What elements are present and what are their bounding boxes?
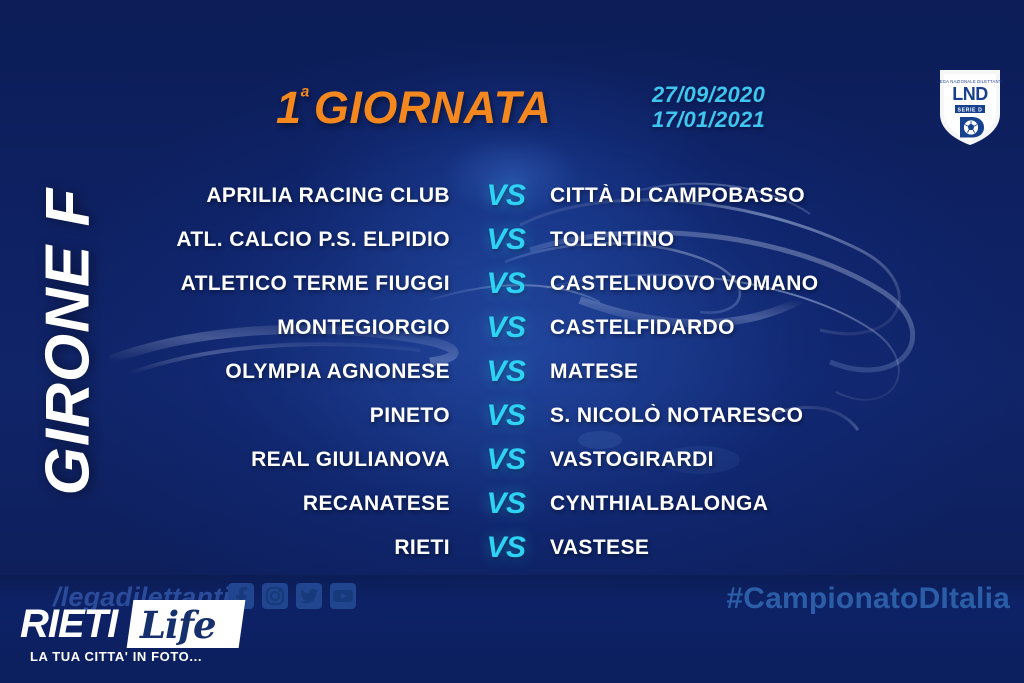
away-team: CYNTHIALBALONGA xyxy=(542,492,1024,516)
table-row: RECANATESE VS CYNTHIALBALONGA xyxy=(0,482,1024,526)
table-row: REAL GIULIANOVA VS VASTOGIRARDI xyxy=(0,438,1024,482)
vs-separator: VS xyxy=(470,179,542,213)
away-team: VASTOGIRARDI xyxy=(542,448,1024,472)
date-second-leg: 17/01/2021 xyxy=(652,107,765,132)
vs-separator: VS xyxy=(470,223,542,257)
home-team: RIETI xyxy=(0,536,470,560)
vs-separator: VS xyxy=(470,443,542,477)
away-team: VASTESE xyxy=(542,536,1024,560)
vs-separator: VS xyxy=(470,399,542,433)
campaign-hashtag: #CampionatoDItalia xyxy=(726,582,1010,616)
home-team: PINETO xyxy=(0,404,470,428)
table-row: APRILIA RACING CLUB VS CITTÀ DI CAMPOBAS… xyxy=(0,174,1024,218)
home-team: REAL GIULIANOVA xyxy=(0,448,470,472)
vs-separator: VS xyxy=(470,355,542,389)
home-team: ATLETICO TERME FIUGGI xyxy=(0,272,470,296)
matchday-number: 1 xyxy=(276,82,302,133)
home-team: MONTEGIORGIO xyxy=(0,316,470,340)
home-team: APRILIA RACING CLUB xyxy=(0,184,470,208)
home-team: RECANATESE xyxy=(0,492,470,516)
rieti-life-watermark: RIETI Life LA TUA CITTA' IN FOTO... xyxy=(18,602,243,668)
away-team: CASTELFIDARDO xyxy=(542,316,1024,340)
twitter-icon[interactable] xyxy=(296,583,322,609)
away-team: TOLENTINO xyxy=(542,228,1024,252)
table-row: RIETI VS VASTESE xyxy=(0,526,1024,570)
matchday-ordinal: ª xyxy=(300,84,309,111)
matchday-word: GIORNATA xyxy=(314,82,551,133)
vs-separator: VS xyxy=(470,267,542,301)
away-team: S. NICOLÒ NOTARESCO xyxy=(542,404,1024,428)
instagram-icon[interactable] xyxy=(262,583,288,609)
watermark-tagline: LA TUA CITTA' IN FOTO... xyxy=(30,649,202,664)
matchday-poster: GIRONE F 1ªGIORNATA 27/09/2020 17/01/202… xyxy=(0,0,1024,683)
table-row: MONTEGIORGIO VS CASTELFIDARDO xyxy=(0,306,1024,350)
table-row: PINETO VS S. NICOLÒ NOTARESCO xyxy=(0,394,1024,438)
matchday-dates: 27/09/2020 17/01/2021 xyxy=(652,82,765,132)
vs-separator: VS xyxy=(470,487,542,521)
youtube-icon[interactable] xyxy=(330,583,356,609)
lnd-serie-d-badge: LEGA NAZIONALE DILETTANTI LND SERIE D xyxy=(936,66,1004,148)
home-team: ATL. CALCIO P.S. ELPIDIO xyxy=(0,228,470,252)
watermark-brand-primary: RIETI xyxy=(20,602,117,646)
away-team: MATESE xyxy=(542,360,1024,384)
home-team: OLYMPIA AGNONESE xyxy=(0,360,470,384)
away-team: CITTÀ DI CAMPOBASSO xyxy=(542,184,1024,208)
table-row: ATLETICO TERME FIUGGI VS CASTELNUOVO VOM… xyxy=(0,262,1024,306)
poster-header: 1ªGIORNATA 27/09/2020 17/01/2021 xyxy=(0,72,1024,136)
away-team: CASTELNUOVO VOMANO xyxy=(542,272,1024,296)
svg-text:SERIE D: SERIE D xyxy=(958,107,983,113)
date-first-leg: 27/09/2020 xyxy=(652,82,765,107)
watermark-brand-secondary: Life xyxy=(140,603,216,647)
social-links xyxy=(228,583,356,609)
svg-text:LND: LND xyxy=(952,84,988,104)
vs-separator: VS xyxy=(470,311,542,345)
matchday-title: 1ªGIORNATA xyxy=(276,72,551,134)
table-row: ATL. CALCIO P.S. ELPIDIO VS TOLENTINO xyxy=(0,218,1024,262)
fixtures-list: APRILIA RACING CLUB VS CITTÀ DI CAMPOBAS… xyxy=(0,174,1024,570)
table-row: OLYMPIA AGNONESE VS MATESE xyxy=(0,350,1024,394)
vs-separator: VS xyxy=(470,531,542,565)
